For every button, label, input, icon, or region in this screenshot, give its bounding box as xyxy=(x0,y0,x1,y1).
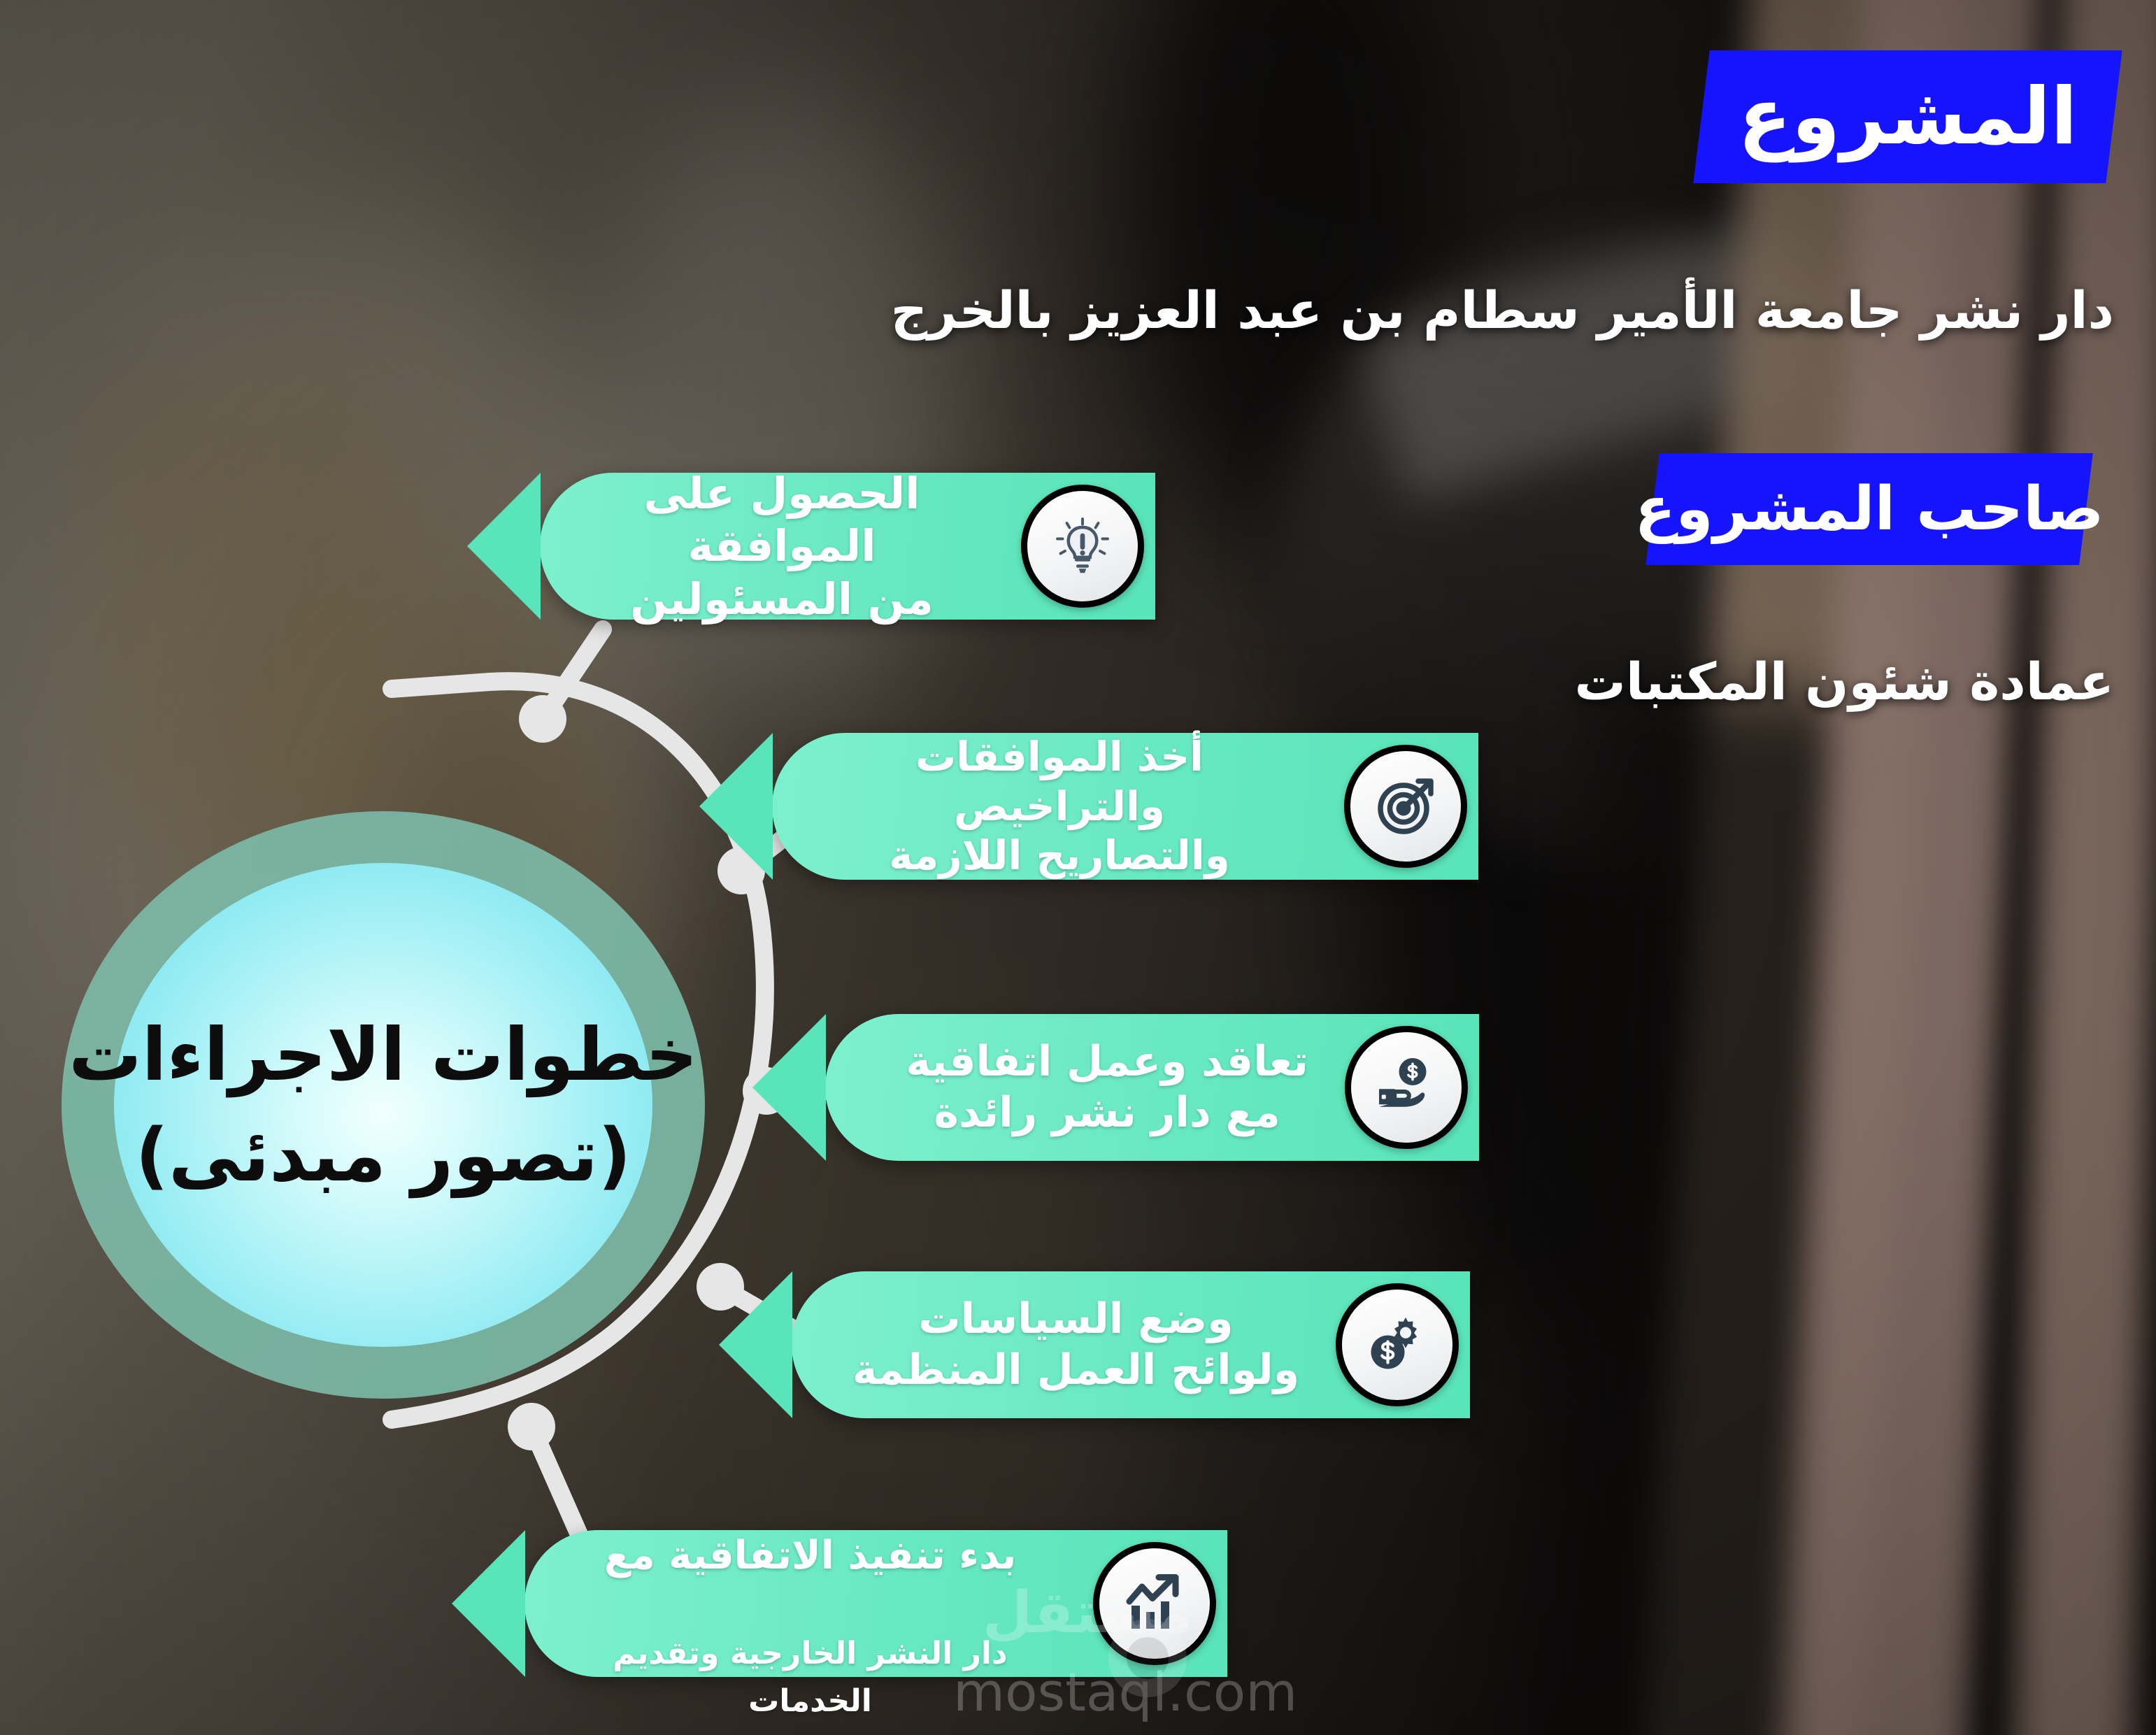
step-label-line2: دار النشر الخارجية وتقديم الخدمات xyxy=(613,1636,1007,1719)
step-label: أخذ الموافقات والتراخيص والتصاريح اللازم… xyxy=(772,732,1337,880)
step-item-3[interactable]: تعاقد وعمل اتفاقية مع دار نشر رائدة xyxy=(825,1014,1479,1161)
banner-owner-label: صاحب المشروع xyxy=(1635,479,2104,539)
hub-text-block: خطوات الاجراءات (تصور مبدئى) xyxy=(62,811,705,1399)
hub-title-line2: (تصور مبدئى) xyxy=(135,1119,631,1192)
banner-owner: صاحب المشروع xyxy=(1652,453,2086,565)
step-label: بدء تنفيذ الاتفاقية مع دار النشر الخارجي… xyxy=(524,1484,1086,1723)
step-item-2[interactable]: أخذ الموافقات والتراخيص والتصاريح اللازم… xyxy=(772,733,1478,880)
central-hub: خطوات الاجراءات (تصور مبدئى) xyxy=(62,811,705,1399)
banner-project-label: المشروع xyxy=(1738,78,2077,156)
step-arrow-shape: أخذ الموافقات والتراخيص والتصاريح اللازم… xyxy=(772,733,1478,880)
hub-title-line1: خطوات الاجراءات xyxy=(69,1018,698,1091)
step-arrow-shape: بدء تنفيذ الاتفاقية مع دار النشر الخارجي… xyxy=(524,1530,1227,1677)
banner-project: المشروع xyxy=(1701,50,2114,183)
step-label: وضع السياسات ولوائح العمل المنظمة xyxy=(813,1294,1329,1396)
infographic-poster: خطوات الاجراءات (تصور مبدئى) الحصول على … xyxy=(0,0,2156,1735)
step-item-1[interactable]: الحصول على الموافقة من المسئولين xyxy=(540,473,1155,620)
step-label: تعاقد وعمل اتفاقية مع دار نشر رائدة xyxy=(866,1036,1338,1138)
step-arrow-shape: تعاقد وعمل اتفاقية مع دار نشر رائدة xyxy=(825,1014,1479,1161)
step-arrow-shape: وضع السياسات ولوائح العمل المنظمة xyxy=(792,1271,1470,1418)
lightbulb-idea-icon xyxy=(1021,485,1144,608)
step-item-4[interactable]: وضع السياسات ولوائح العمل المنظمة xyxy=(792,1271,1470,1418)
target-dart-icon xyxy=(1344,745,1467,868)
step-label: الحصول على الموافقة من المسئولين xyxy=(540,467,1014,626)
gear-coin-icon xyxy=(1336,1283,1459,1406)
growth-chart-icon xyxy=(1093,1542,1216,1665)
step-item-5[interactable]: بدء تنفيذ الاتفاقية مع دار النشر الخارجي… xyxy=(524,1530,1227,1677)
hand-holding-coin-icon xyxy=(1345,1026,1468,1149)
subtitle-owner: عمادة شئون المكتبات xyxy=(1575,655,2114,711)
step-arrow-shape: الحصول على الموافقة من المسئولين xyxy=(540,473,1155,620)
subtitle-project: دار نشر جامعة الأمير سطام بن عبد العزيز … xyxy=(891,283,2114,339)
step-label-line1: بدء تنفيذ الاتفاقية مع xyxy=(604,1533,1017,1578)
